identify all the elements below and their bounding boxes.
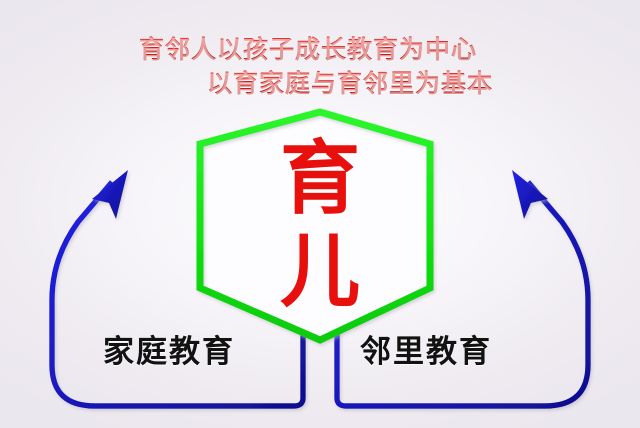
- branch-label-neighborhood-education: 邻里教育: [360, 335, 492, 369]
- neighborhood-education-arrowhead-icon: [512, 170, 548, 219]
- core-char-bottom: 儿: [248, 232, 392, 312]
- branch-label-family-education: 家庭教育: [103, 335, 235, 369]
- family-education-arrowhead-icon: [92, 170, 128, 219]
- core-char-top: 育: [248, 139, 392, 219]
- infographic-canvas: 育邻人以孩子成长教育为中心 以育家庭与育邻里为基本 育 儿 家庭教育 邻里教育: [0, 0, 640, 428]
- headline-line-1: 育邻人以孩子成长教育为中心: [0, 33, 628, 67]
- headline-line-2: 以育家庭与育邻里为基本: [30, 67, 640, 101]
